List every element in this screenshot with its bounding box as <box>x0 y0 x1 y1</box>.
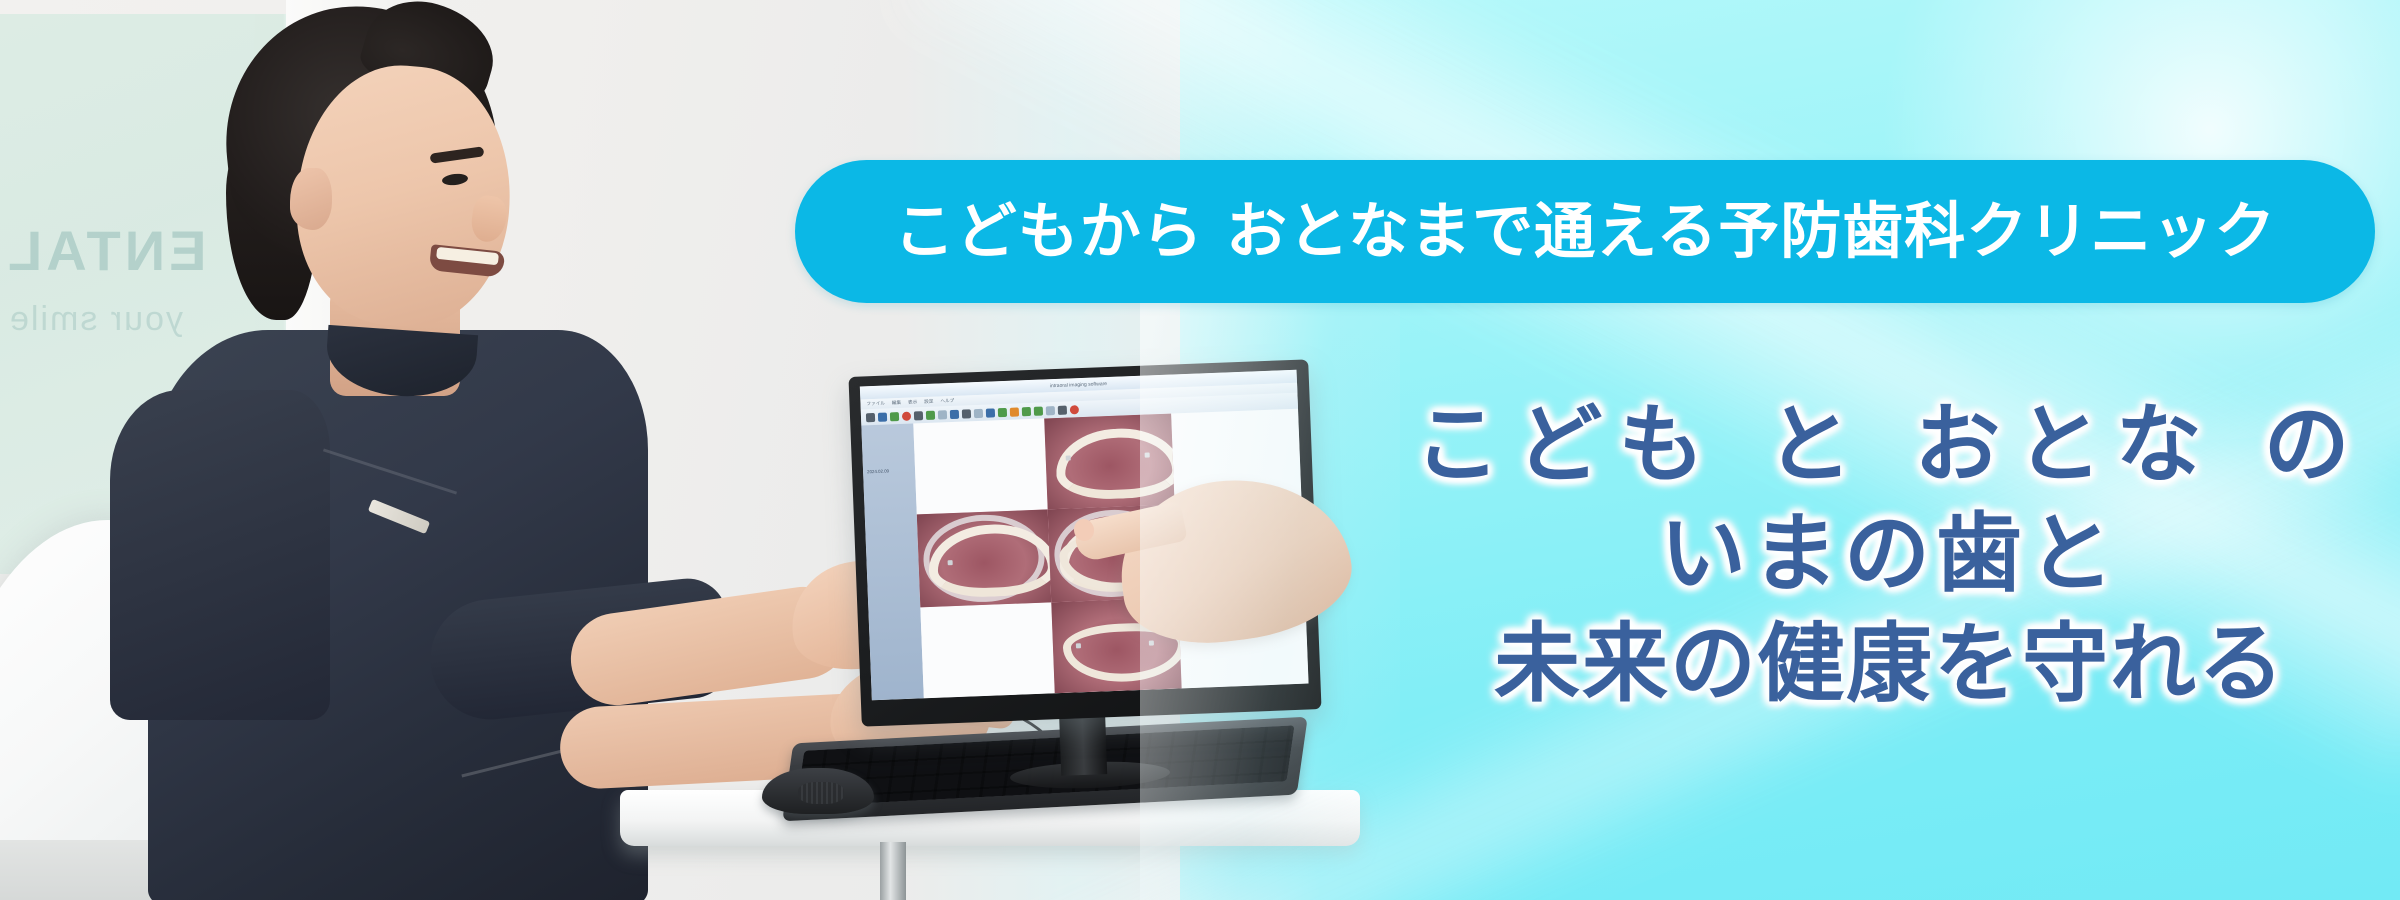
grid-icon[interactable] <box>938 410 947 419</box>
mouse-grip <box>798 782 844 804</box>
arrow-icon[interactable] <box>866 412 875 421</box>
undo-icon[interactable] <box>1034 406 1043 415</box>
zoom-out-icon[interactable] <box>974 408 983 417</box>
menu-item-file[interactable]: ファイル <box>866 401 885 408</box>
patient-icon[interactable] <box>878 412 887 421</box>
ear <box>290 168 332 230</box>
headline: こども と おとな の いまの歯と 未来の健康を守れる <box>1390 395 2390 715</box>
close-icon[interactable] <box>1070 405 1079 414</box>
dentist-figure <box>130 0 690 900</box>
chart-icon[interactable] <box>890 412 899 421</box>
bracket-icon <box>1149 640 1154 645</box>
hero-banner: ENTAL your smile <box>0 0 2400 900</box>
text-icon[interactable] <box>962 409 971 418</box>
menu-item-help[interactable]: ヘルプ <box>940 398 954 405</box>
mouse[interactable] <box>762 768 874 814</box>
bracket-icon <box>1145 453 1150 458</box>
compare-icon[interactable] <box>1010 407 1019 416</box>
bracket-right-icon[interactable] <box>1022 406 1031 415</box>
menu-item-settings[interactable]: 設定 <box>924 399 933 405</box>
headline-line-3: 未来の健康を守れる <box>1390 614 2390 715</box>
intraoral-photo-right-buccal[interactable] <box>917 509 1051 607</box>
redo-icon[interactable] <box>1046 406 1055 415</box>
bracket-left-icon[interactable] <box>998 407 1007 416</box>
pen-icon[interactable] <box>914 411 923 420</box>
menu-item-edit[interactable]: 編集 <box>892 400 901 406</box>
tagline-badge-text: こどもから おとなまで通える予防歯科クリニック <box>894 201 2277 262</box>
menu-item-view[interactable]: 表示 <box>908 399 917 405</box>
intraoral-photo-upper-occlusal[interactable] <box>1044 414 1174 510</box>
record-icon[interactable] <box>902 411 911 420</box>
tooth-icon[interactable] <box>926 410 935 419</box>
desk-leg <box>880 842 906 900</box>
crop-icon[interactable] <box>950 409 959 418</box>
bracket-icon <box>947 560 952 565</box>
sidebar-date-label: 2024.02.09 <box>867 468 889 474</box>
tagline-badge[interactable]: こどもから おとなまで通える予防歯科クリニック <box>795 160 2375 303</box>
headline-line-2: いまの歯と <box>1390 504 2390 605</box>
headline-line-1: こども と おとな の <box>1390 395 2390 496</box>
bracket-icon <box>1066 456 1071 461</box>
font-icon[interactable] <box>1058 405 1067 414</box>
zoom-in-icon[interactable] <box>986 408 995 417</box>
teeth <box>436 247 499 265</box>
shoulder <box>110 390 330 720</box>
bracket-icon <box>1076 643 1081 648</box>
